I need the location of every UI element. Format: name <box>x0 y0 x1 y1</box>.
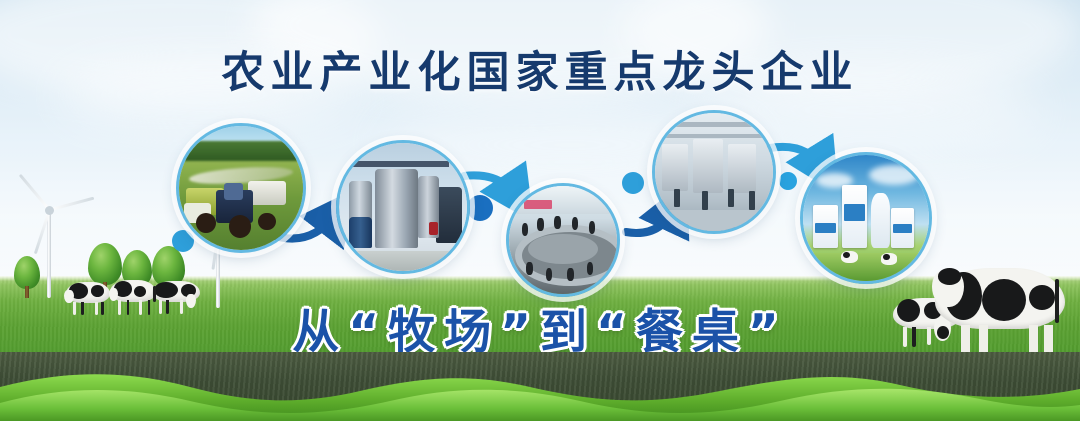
parlor-cow <box>554 216 560 229</box>
milk-bottle <box>871 193 890 248</box>
silo-tank-left-base <box>349 217 372 248</box>
factory-worker <box>702 191 708 210</box>
pack-sky-cloud <box>869 165 919 185</box>
flow-node-dairy-factory[interactable] <box>652 110 776 234</box>
tree-crown <box>14 256 40 289</box>
tree-crown <box>88 243 122 285</box>
harvester-trailer <box>248 181 285 206</box>
milk-pack <box>813 205 838 248</box>
pack-mini-cow <box>881 253 897 264</box>
silo-tank-main <box>375 169 419 248</box>
milk-pack <box>891 208 914 248</box>
pack-band <box>893 224 912 233</box>
photo-feed-processing <box>339 143 467 271</box>
pack-mini-cow-patch <box>843 252 850 258</box>
parlor-cow <box>546 268 552 281</box>
dot-4 <box>622 172 644 194</box>
flow-node-milk-products[interactable] <box>800 152 932 284</box>
turbine-mast <box>47 210 51 298</box>
parlor-cow <box>589 221 595 234</box>
parlor-cow <box>526 262 532 275</box>
dot-3 <box>467 195 493 221</box>
pack-mini-cow <box>841 251 859 264</box>
factory-worker <box>749 191 755 210</box>
photo-milk-products <box>803 155 929 281</box>
field-treeline <box>179 141 303 161</box>
silo-gantry <box>347 161 449 167</box>
parlor-cow <box>567 268 573 281</box>
factory-machine <box>662 144 688 191</box>
milk-pack <box>842 185 867 248</box>
parlor-cow <box>522 223 528 236</box>
photo-milking-parlor <box>509 186 617 294</box>
factory-machine <box>728 144 756 194</box>
turbine-hub <box>45 206 54 215</box>
cow-head-patch <box>938 268 961 285</box>
flow-node-milking-parlor[interactable] <box>506 183 620 297</box>
flow-node-forage-harvest[interactable] <box>176 123 306 253</box>
silo-tank-dark <box>436 187 462 243</box>
page-title: 农业产业化国家重点龙头企业 <box>0 38 1080 100</box>
harvester-wheel <box>258 213 275 230</box>
parlor-sign <box>524 200 552 209</box>
dot-6 <box>779 172 797 190</box>
flow-node-feed-processing[interactable] <box>336 140 470 274</box>
silo-valve <box>429 222 438 235</box>
factory-floor <box>655 210 773 231</box>
factory-ceiling-beam <box>655 122 773 127</box>
parlor-cow <box>537 218 543 231</box>
factory-ceiling-beam <box>655 134 773 138</box>
harvester-window <box>224 183 244 200</box>
harvester-wheel <box>229 215 251 237</box>
silo-ground <box>339 251 467 271</box>
factory-machine <box>693 139 724 193</box>
tree-4 <box>14 256 40 298</box>
pack-green-field <box>803 253 929 281</box>
pack-mini-cow-patch <box>883 254 889 260</box>
pack-band <box>815 223 836 232</box>
photo-forage-harvest <box>179 126 303 250</box>
harvester-wheel <box>196 213 216 233</box>
pack-band <box>844 204 865 220</box>
banner-image: 农业产业化国家重点龙头企业 从“牧场”到“餐桌” <box>0 0 1080 421</box>
parlor-cow <box>572 217 578 230</box>
parlor-cow <box>587 262 593 275</box>
rolling-hills <box>0 361 1080 421</box>
factory-worker <box>674 189 680 208</box>
rotary-platform-inner <box>528 234 597 264</box>
photo-dairy-factory <box>655 113 773 231</box>
factory-worker <box>728 189 734 208</box>
